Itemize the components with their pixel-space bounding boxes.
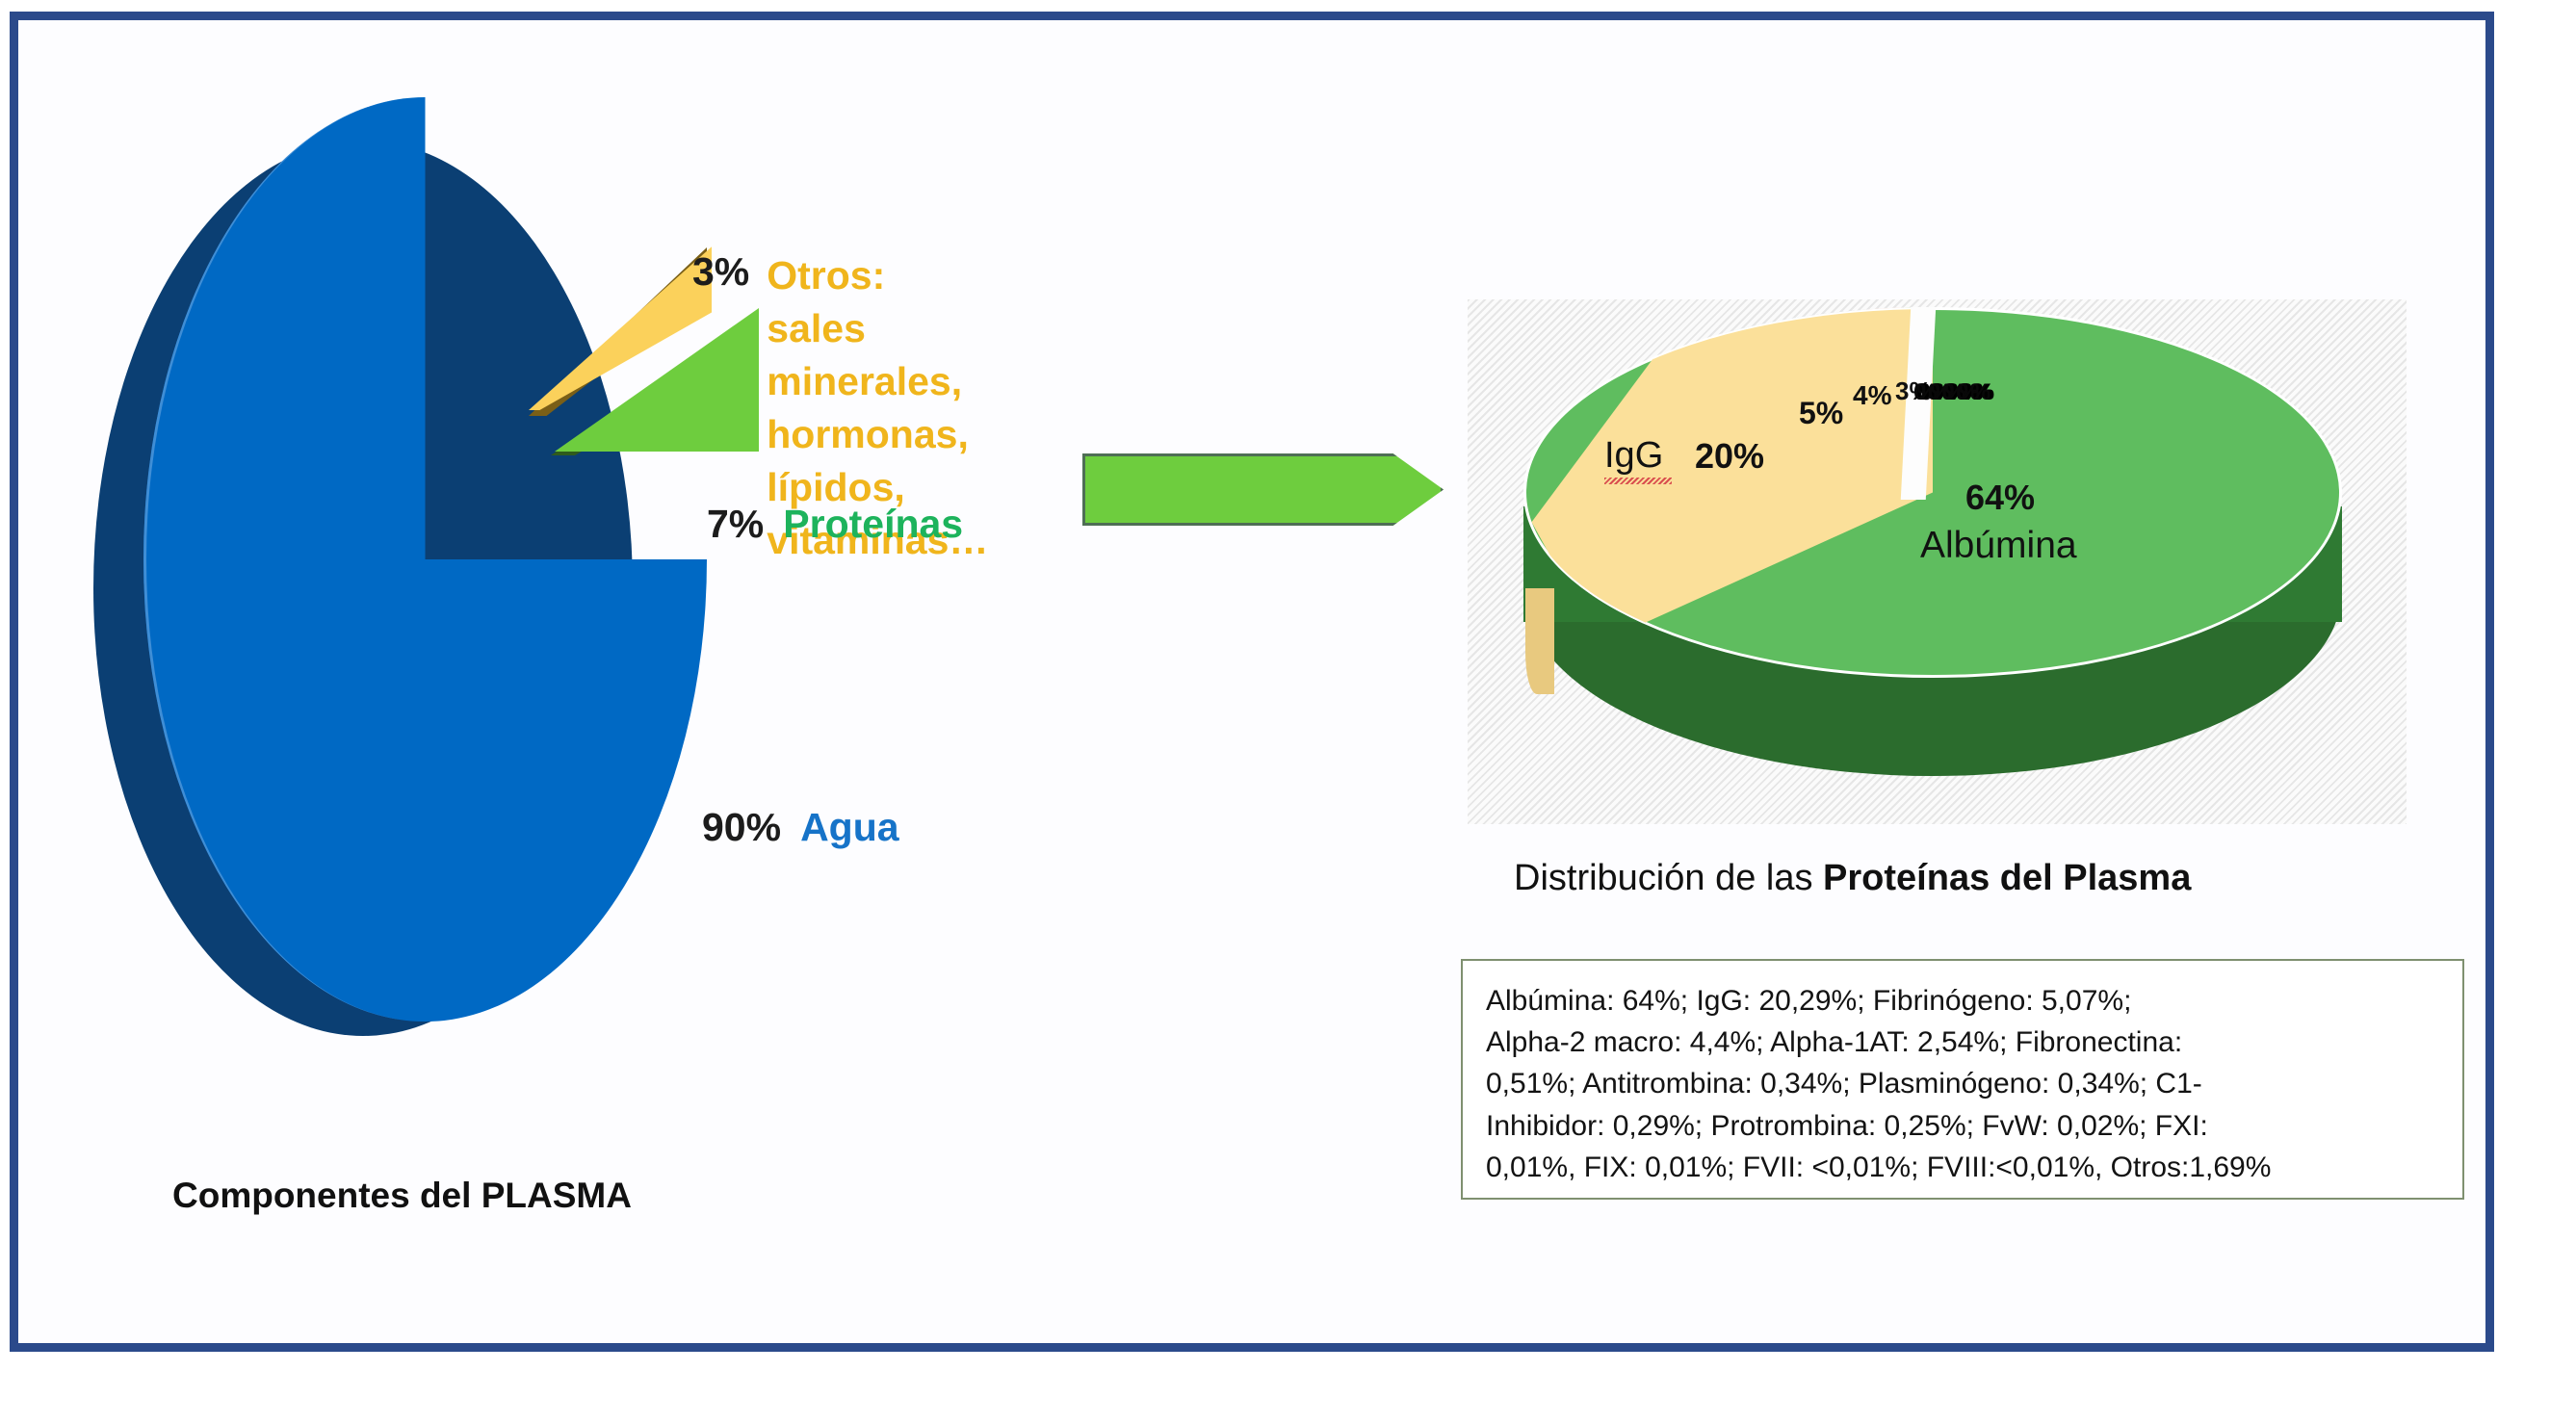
- legend-line: Alpha-2 macro: 4,4%; Alpha-1AT: 2,54%; F…: [1486, 1022, 2441, 1063]
- label-albumina-name: Albúmina: [1920, 525, 2077, 567]
- slide-canvas: 3% Otros: sales minerales, hormonas, líp…: [0, 0, 2576, 1423]
- legend-line: Inhibidor: 0,29%; Protrombina: 0,25%; Fv…: [1486, 1105, 2441, 1147]
- label-fibrinogeno-percent: 5%: [1799, 396, 1843, 431]
- label-proteinas-text: Proteínas: [783, 502, 963, 547]
- label-igg-name: IgG: [1604, 435, 1663, 477]
- label-proteinas: 7% Proteínas: [707, 502, 963, 547]
- plasma-components-pie-chart: 3% Otros: sales minerales, hormonas, líp…: [76, 78, 866, 1156]
- slide-border-frame: 3% Otros: sales minerales, hormonas, líp…: [10, 12, 2494, 1352]
- legend-line: 0,51%; Antitrombina: 0,34%; Plasminógeno…: [1486, 1063, 2441, 1104]
- label-albumina-percent: 64%: [1965, 478, 2035, 518]
- right-chart-caption-plain: Distribución de las: [1514, 858, 1823, 898]
- protein-distribution-textbox: Albúmina: 64%; IgG: 20,29%; Fibrinógeno:…: [1461, 959, 2464, 1200]
- legend-line: Albúmina: 64%; IgG: 20,29%; Fibrinógeno:…: [1486, 980, 2441, 1022]
- label-alpha2macro-percent: 4%: [1853, 380, 1891, 411]
- plasma-proteins-pie-chart: 64% Albúmina IgG 20% 5% 4% 3% 0%0%0%0%%: [1468, 299, 2407, 824]
- label-igg-percent: 20%: [1695, 436, 1764, 477]
- label-agua: 90% Agua: [702, 805, 899, 850]
- label-proteinas-percent: 7%: [707, 502, 764, 547]
- label-overlapping-small-percents: 0%0%0%0%%: [1913, 379, 1981, 406]
- legend-line: 0,01%, FIX: 0,01%; FVII: <0,01%; FVIII:<…: [1486, 1147, 2441, 1188]
- label-agua-percent: 90%: [702, 805, 781, 850]
- pie-igg-3d-side: [1525, 588, 1554, 694]
- left-chart-caption: Componentes del PLASMA: [172, 1176, 632, 1216]
- label-agua-text: Agua: [800, 805, 899, 850]
- spellcheck-underline-igg: [1604, 478, 1672, 484]
- label-otros-percent: 3%: [692, 249, 749, 295]
- right-chart-caption: Distribución de las Proteínas del Plasma: [1514, 858, 2191, 899]
- right-arrow-icon: [1082, 453, 1444, 526]
- right-chart-caption-bold: Proteínas del Plasma: [1823, 858, 2191, 898]
